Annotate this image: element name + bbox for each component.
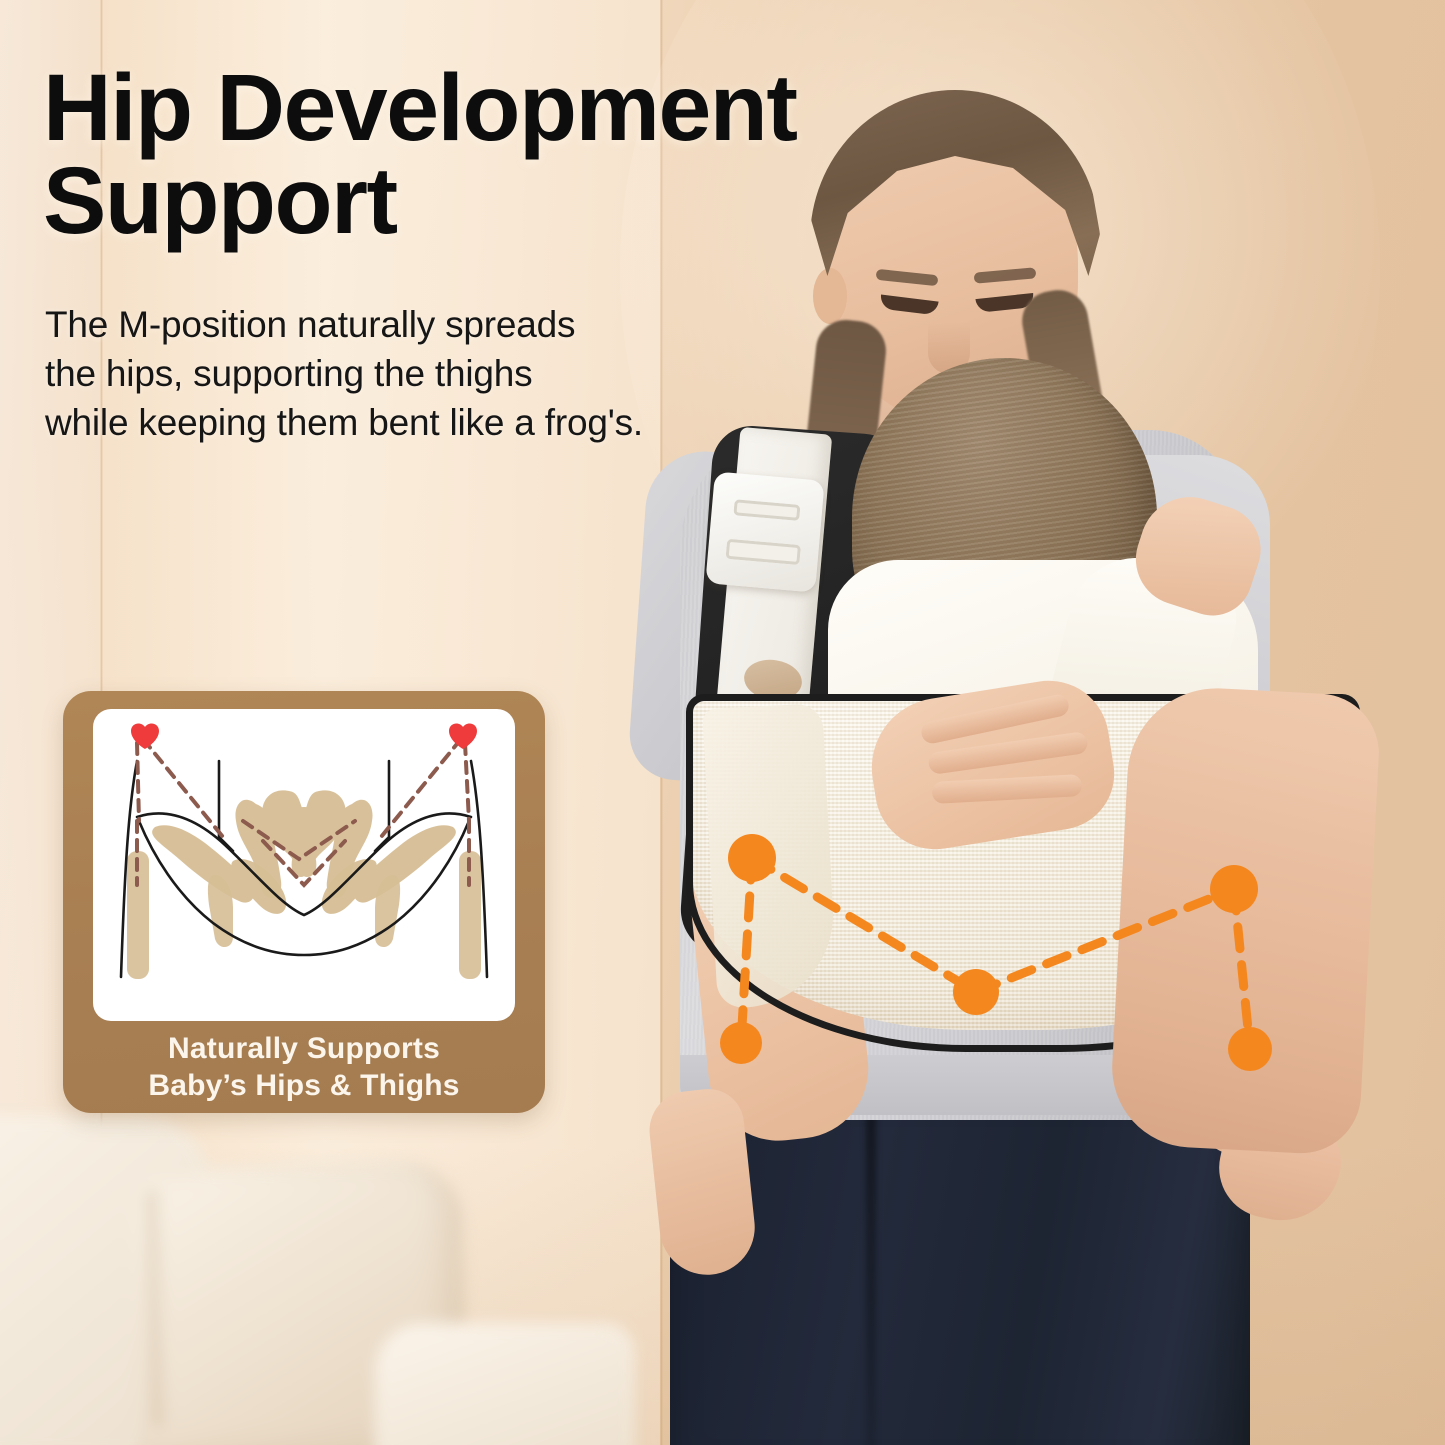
infographic-canvas: Hip Development Support The M-position n… — [0, 0, 1445, 1445]
mother-hand-left — [646, 1086, 760, 1280]
feature-description: The M-position naturally spreads the hip… — [45, 300, 785, 448]
diagram-panel — [93, 709, 515, 1021]
headline-line-1: Hip Development — [43, 62, 833, 155]
mother-ear — [813, 268, 847, 324]
carrier-buckle — [705, 471, 824, 592]
subcopy-line-1: The M-position naturally spreads — [45, 300, 785, 349]
page-title: Hip Development Support — [43, 62, 833, 248]
hip-support-info-card: Naturally Supports Baby’s Hips & Thighs — [63, 691, 545, 1113]
card-caption-line-1: Naturally Supports — [63, 1031, 545, 1068]
baby-hip-anatomy-diagram — [93, 709, 515, 1021]
card-caption-line-2: Baby’s Hips & Thighs — [63, 1068, 545, 1105]
subcopy-line-2: the hips, supporting the thighs — [45, 349, 785, 398]
sofa-group — [0, 1115, 620, 1445]
mother-arm-right — [1108, 684, 1382, 1156]
subcopy-line-3: while keeping them bent like a frog's. — [45, 398, 785, 447]
headline-line-2: Support — [43, 155, 833, 248]
card-caption: Naturally Supports Baby’s Hips & Thighs — [63, 1031, 545, 1104]
hip-joint-markers — [131, 724, 477, 749]
